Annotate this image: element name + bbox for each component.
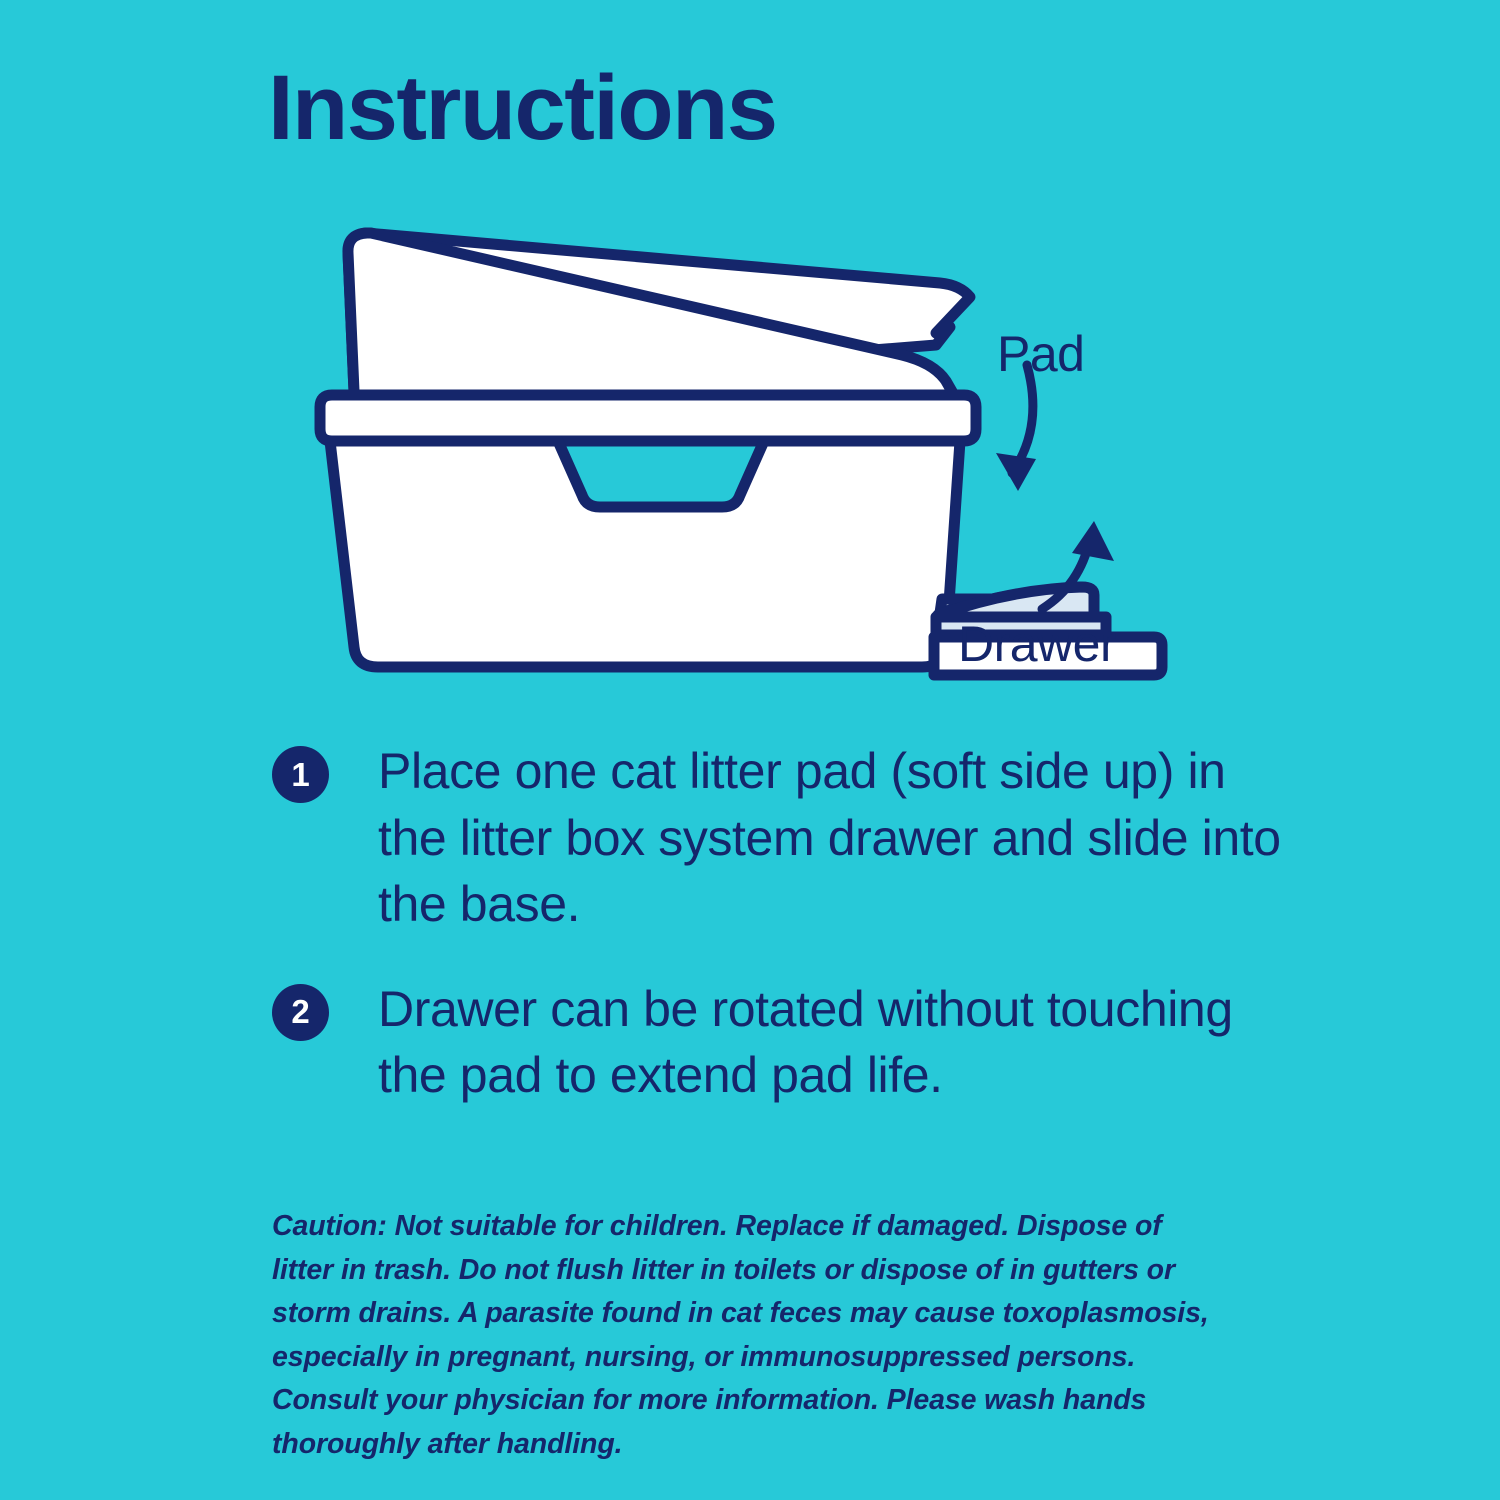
step-text: Place one cat litter pad (soft side up) … — [378, 738, 1292, 938]
base-tub — [330, 441, 960, 667]
instructions-panel: Instructions — [0, 0, 1500, 1500]
pad-callout-label: Pad — [997, 325, 1084, 383]
instruction-step-1: 1 Place one cat litter pad (soft side up… — [272, 738, 1292, 938]
step-number-badge: 1 — [272, 746, 329, 803]
caution-text: Caution: Not suitable for children. Repl… — [272, 1205, 1217, 1467]
page-title: Instructions — [268, 62, 776, 154]
instruction-steps: 1 Place one cat litter pad (soft side up… — [272, 738, 1292, 1147]
pad-callout-arrow — [996, 365, 1036, 491]
instruction-step-2: 2 Drawer can be rotated without touching… — [272, 976, 1292, 1109]
drawer-callout-label: Drawer — [958, 615, 1116, 673]
rim — [320, 395, 976, 441]
step-number-badge: 2 — [272, 984, 329, 1041]
step-text: Drawer can be rotated without touching t… — [378, 976, 1292, 1109]
